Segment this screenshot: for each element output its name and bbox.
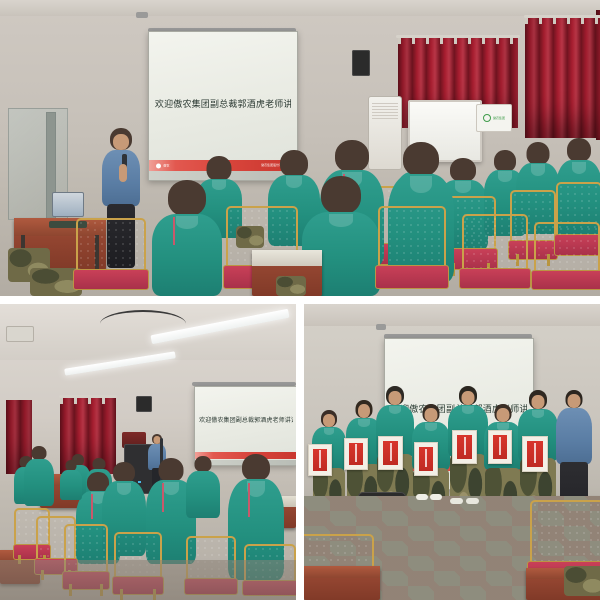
polo-shirt [60, 470, 82, 500]
chair-back [76, 218, 146, 274]
head [113, 462, 135, 483]
curtain-rings [60, 398, 116, 404]
audience-member [24, 446, 54, 506]
certificate-cover [313, 449, 327, 472]
certificate [522, 436, 548, 472]
lanyard [248, 483, 250, 517]
curtain-rings [398, 38, 518, 44]
wall-speaker [352, 50, 370, 76]
camo-bag-foreground [564, 566, 600, 596]
certificate-cover [383, 441, 398, 465]
table-top [304, 566, 380, 578]
shoe [466, 498, 479, 504]
head [168, 180, 206, 216]
chair-seat [73, 269, 149, 290]
award-ceremony-scene: 欢迎傲农集团副总裁郭酒虎老师讲话 [304, 304, 600, 600]
face [358, 404, 370, 418]
face [497, 408, 510, 422]
collar [389, 406, 401, 414]
face [389, 391, 402, 405]
shoe [430, 494, 442, 500]
slide-title-text: 欢迎傲农集团副总裁郭酒虎老师讲话 [199, 415, 293, 424]
face [532, 395, 545, 409]
classroom-scene-wide: 欢迎傲农集团副总裁郭酒虎老师讲话 [0, 304, 296, 600]
head [159, 458, 184, 482]
company-banner: 傲农集团 [476, 104, 512, 132]
floor [0, 560, 296, 600]
head [335, 140, 369, 172]
collar [358, 419, 370, 427]
chair-seat [375, 265, 448, 289]
certificate [308, 444, 332, 476]
head [567, 138, 591, 162]
chair-back [462, 214, 528, 273]
laptop-screen [52, 192, 84, 217]
lanyard [173, 217, 175, 245]
face [323, 414, 335, 427]
certificate [452, 430, 477, 464]
ac-vent [372, 103, 398, 119]
photo-panel-top: 欢迎傲农集团副总裁郭酒虎老师讲话 傲农 傲农集团股份有限公司 [0, 0, 600, 296]
collar [163, 482, 179, 495]
audience-member [186, 456, 220, 518]
certificate [414, 442, 438, 476]
polo-shirt [186, 471, 220, 518]
leaf-logo-icon [483, 114, 491, 122]
slide-title-text: 欢迎傲农集团副总裁郭酒虎老师讲话 [155, 97, 291, 110]
ceiling-cable [100, 310, 186, 338]
ceiling-projector [6, 326, 34, 342]
collar [286, 176, 303, 187]
collar [455, 181, 471, 192]
head [321, 176, 361, 214]
head [32, 446, 47, 460]
wall-speaker [136, 396, 152, 412]
collar [117, 483, 131, 495]
curtain-right [525, 18, 600, 138]
curtain-rings [525, 18, 600, 24]
slide-brand-label: 傲农 [163, 164, 169, 167]
table-foreground-left [304, 566, 380, 600]
chair-front [462, 214, 528, 296]
head [494, 150, 516, 172]
certificate [344, 438, 368, 470]
collar [498, 171, 511, 182]
collar [572, 162, 587, 174]
ceiling [304, 304, 600, 326]
head [403, 142, 439, 176]
photo-panel-bottom-left: 欢迎傲农集团副总裁郭酒虎老师讲话 [0, 304, 296, 600]
certificate-cover [349, 443, 363, 466]
chair-front [378, 206, 446, 296]
chair-seat [459, 268, 530, 290]
camo-bag [236, 226, 264, 248]
certificate-cover [457, 435, 472, 459]
presenter-face [113, 134, 129, 150]
head [527, 142, 550, 165]
logo-dot-icon [156, 163, 161, 168]
certificate [378, 436, 403, 470]
head [280, 150, 308, 177]
chair-back [530, 500, 600, 566]
certificate-cover [419, 447, 433, 471]
head [242, 454, 270, 481]
ceiling [0, 0, 600, 16]
certificate-cover [493, 435, 507, 459]
collar [462, 406, 475, 414]
shoe [416, 494, 428, 500]
audience-member-front [152, 180, 222, 296]
audience-member [60, 460, 82, 500]
photo-panel-bottom-right: 欢迎傲农集团副总裁郭酒虎老师讲话 [304, 304, 600, 600]
collar [410, 176, 431, 193]
head [195, 456, 212, 472]
collar [324, 428, 335, 435]
head [207, 156, 232, 181]
projector-screen-case [136, 12, 148, 18]
polo-shirt [24, 459, 54, 506]
instructor-shirt [556, 408, 592, 464]
collar [425, 423, 437, 431]
face [425, 408, 438, 422]
lanyard [162, 483, 164, 512]
collar [531, 164, 545, 175]
certificate [488, 430, 512, 464]
chair-front [76, 218, 146, 296]
table-top [252, 250, 322, 266]
company-banner-label: 傲农集团 [493, 117, 505, 120]
collar [532, 410, 545, 418]
chair-front [534, 222, 600, 296]
chair-back [378, 206, 446, 271]
instructor-face [568, 394, 581, 408]
face [462, 391, 475, 405]
chair-back [534, 222, 600, 275]
slide-brand-logo: 傲农 [156, 163, 169, 168]
collar [176, 216, 198, 229]
certificate-cover [527, 441, 542, 467]
collar [329, 214, 354, 227]
presenter-arm [119, 164, 127, 182]
polo-shirt [152, 214, 222, 296]
classroom-scene-front: 欢迎傲农集团副总裁郭酒虎老师讲话 傲农 傲农集团股份有限公司 [0, 0, 600, 296]
camo-bag [276, 276, 306, 296]
lanyard [91, 494, 93, 519]
projector-screen-case [376, 324, 386, 330]
shoe [450, 498, 463, 504]
photo-collage: 欢迎傲农集团副总裁郭酒虎老师讲话 傲农 傲农集团股份有限公司 [0, 0, 600, 600]
chair-seat [531, 270, 600, 290]
